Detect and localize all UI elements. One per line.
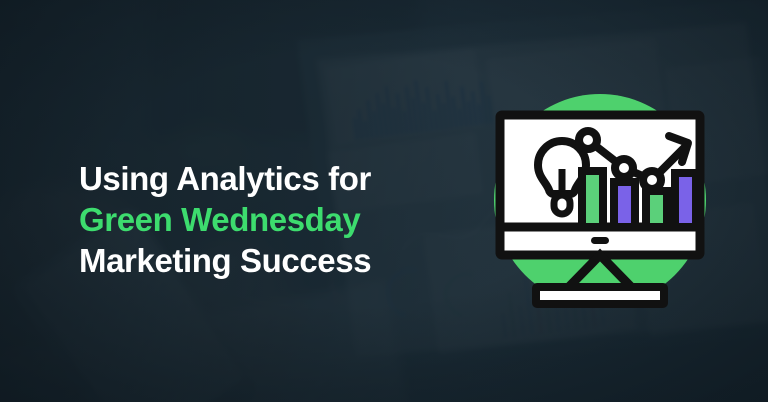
headline: Using Analytics for Green Wednesday Mark… xyxy=(79,158,371,281)
bar-1 xyxy=(582,171,603,227)
headline-line-3: Marketing Success xyxy=(79,240,371,281)
analytics-monitor-svg xyxy=(489,89,711,311)
bar-3 xyxy=(646,191,667,227)
bar-chart-icon xyxy=(582,171,696,227)
analytics-monitor-icon xyxy=(489,89,711,311)
banner: Using Analytics for Green Wednesday Mark… xyxy=(0,0,768,402)
bar-4 xyxy=(675,173,696,227)
headline-line-1: Using Analytics for xyxy=(79,158,371,199)
monitor-base xyxy=(536,287,664,304)
bar-2 xyxy=(614,182,635,227)
monitor-led-indicator xyxy=(591,237,609,244)
headline-line-2: Green Wednesday xyxy=(79,199,371,240)
